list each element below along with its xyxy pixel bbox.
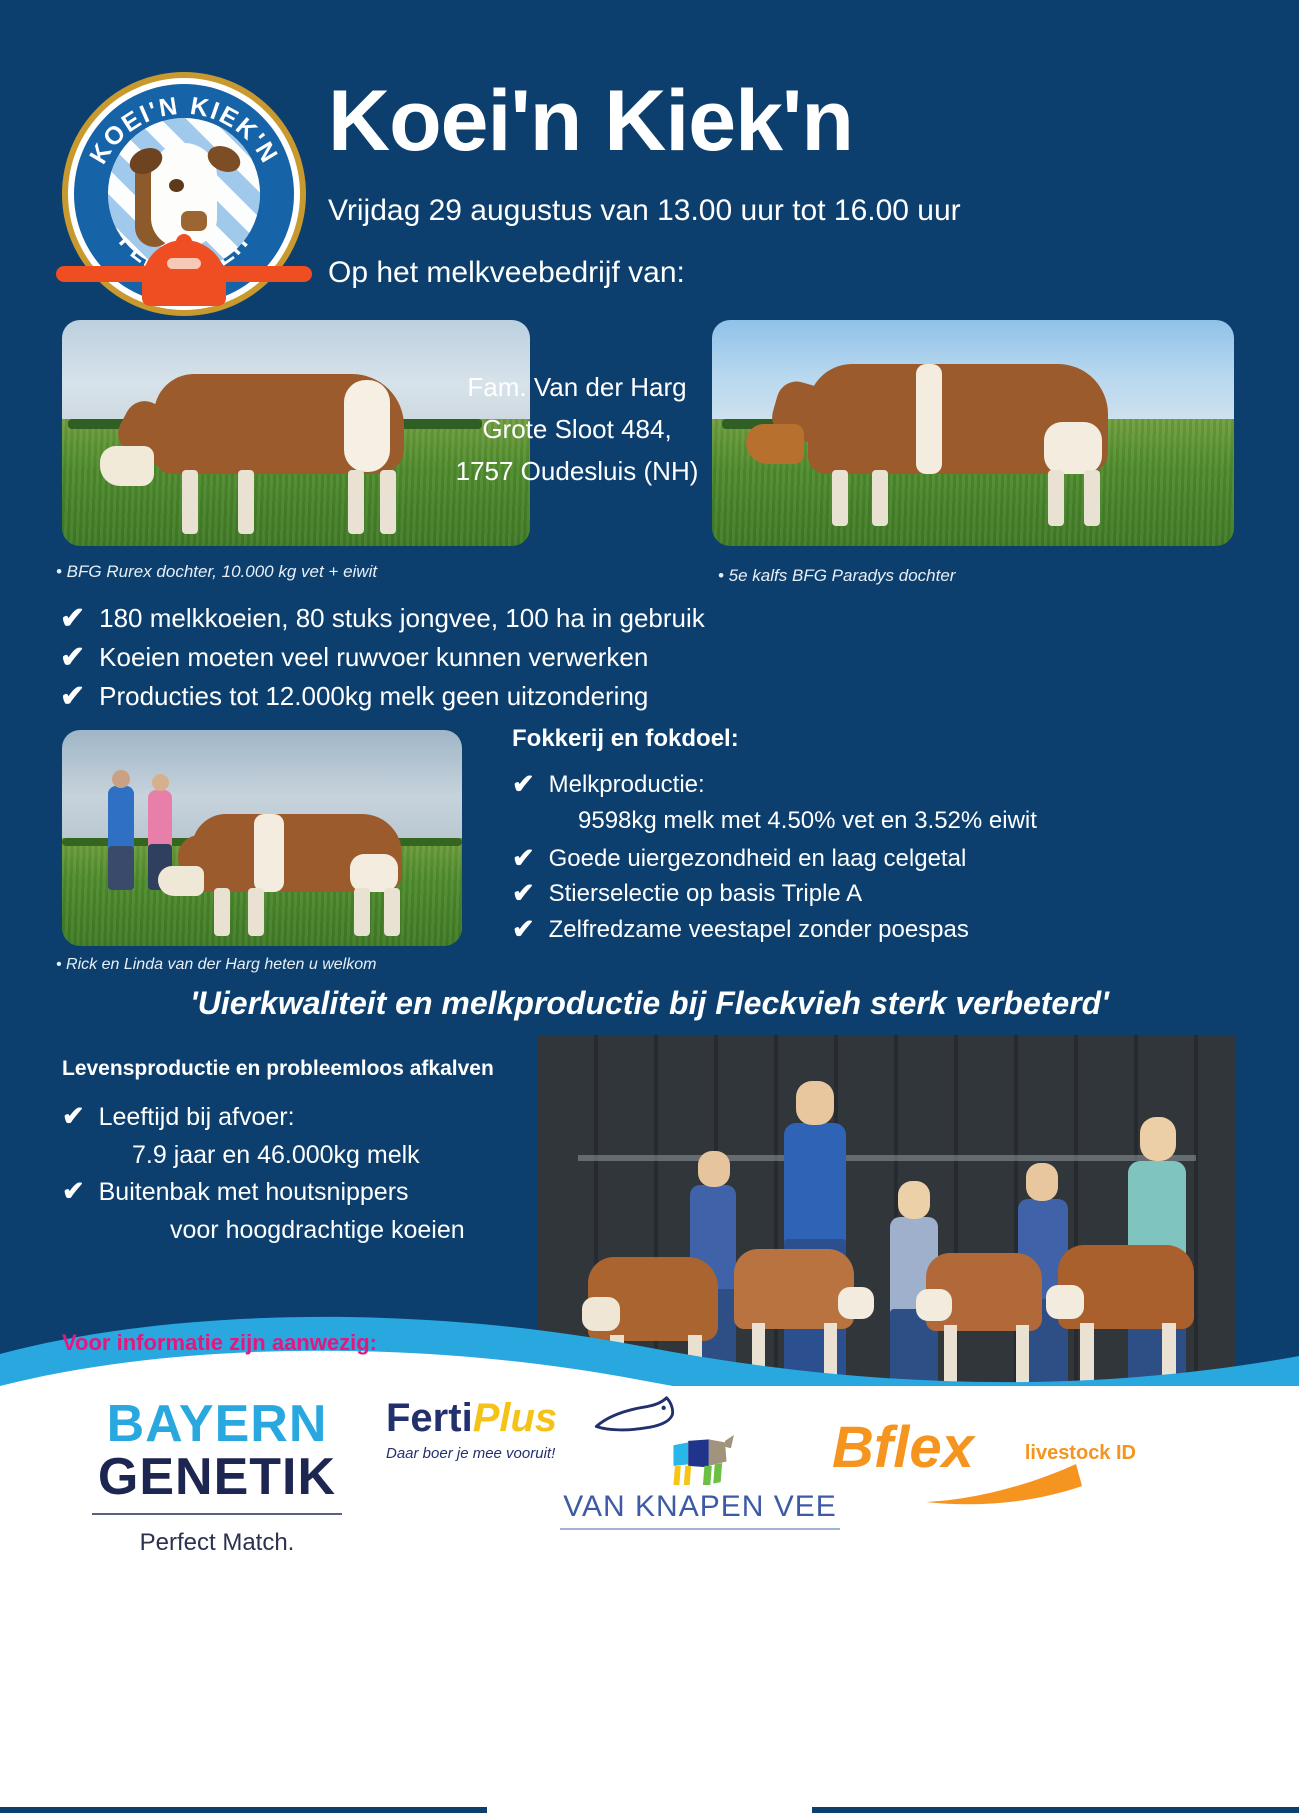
check-icon: ✔	[512, 916, 535, 943]
fact-text: 180 melkkoeien, 80 stuks jongvee, 100 ha…	[99, 604, 705, 634]
check-icon: ✔	[60, 682, 85, 712]
fact-text: Koeien moeten veel ruwvoer kunnen verwer…	[99, 643, 648, 673]
lifetime-item-label: Leeftijd bij afvoer:	[99, 1103, 295, 1132]
check-icon: ✔	[512, 845, 535, 872]
bottom-notch	[487, 1807, 812, 1813]
bayern-line-2: GENETIK	[82, 1450, 352, 1505]
address-line-2: Grote Sloot 484,	[452, 408, 702, 450]
van-knapen-cow-icon	[663, 1432, 737, 1488]
farm-address: Fam. Van der Harg Grote Sloot 484, 1757 …	[452, 366, 702, 492]
poster-root: KOEI'N KIEK'N FLECKVIEH	[0, 0, 1299, 1813]
check-icon: ✔	[62, 1103, 85, 1130]
breeding-heading: Fokkerij en fokdoel:	[512, 725, 1112, 753]
list-item: ✔ Buitenbak met houtsnippers	[62, 1178, 532, 1207]
info-label: Voor informatie zijn aanwezig:	[62, 1330, 377, 1356]
bflex-swoosh-icon	[924, 1462, 1084, 1506]
check-icon: ✔	[512, 771, 535, 798]
sponsor-logo-bflex[interactable]: Bflex livestock ID	[832, 1420, 1132, 1475]
list-item: ✔ Producties tot 12.000kg melk geen uitz…	[60, 682, 860, 712]
poster-header: KOEI'N KIEK'N FLECKVIEH	[0, 0, 1299, 330]
breeding-item-label: Goede uiergezondheid en laag celgetal	[549, 845, 967, 873]
sponsor-logo-van-knapen-vee[interactable]: VAN KNAPEN VEE	[560, 1432, 840, 1530]
list-item: ✔ Stierselectie op basis Triple A	[512, 880, 1112, 908]
event-intro: Op het melkveebedrijf van:	[328, 256, 1288, 290]
breeding-item-label: Stierselectie op basis Triple A	[549, 880, 863, 908]
pull-quote: 'Uierkwaliteit en melkproductie bij Flec…	[0, 985, 1299, 1022]
page-title: Koei'n Kiek'n	[328, 78, 1288, 164]
fertiplus-line-1: Ferti	[386, 1396, 473, 1441]
van-knapen-text: VAN KNAPEN VEE	[560, 1490, 840, 1524]
photo-caption-3: • Rick en Linda van der Harg heten u wel…	[56, 956, 376, 974]
list-item: ✔ Koeien moeten veel ruwvoer kunnen verw…	[60, 643, 860, 673]
check-icon: ✔	[60, 604, 85, 634]
list-item: ✔ Melkproductie:	[512, 771, 1112, 799]
list-item: ✔ Zelfredzame veestapel zonder poespas	[512, 916, 1112, 944]
photo-caption-2: • 5e kalfs BFG Paradys dochter	[718, 566, 955, 586]
list-item: ✔ Leeftijd bij afvoer:	[62, 1103, 532, 1132]
lifetime-section: Levensproductie en probleemloos afkalven…	[62, 1057, 532, 1245]
lifetime-heading: Levensproductie en probleemloos afkalven	[62, 1057, 532, 1081]
bayern-line-1: BAYERN	[82, 1398, 352, 1450]
check-icon: ✔	[512, 880, 535, 907]
bayern-tagline: Perfect Match.	[82, 1529, 352, 1557]
photo-family-with-cow	[62, 730, 462, 946]
list-item: ✔ Goede uiergezondheid en laag celgetal	[512, 845, 1112, 873]
breeding-section: Fokkerij en fokdoel: ✔ Melkproductie: 95…	[512, 725, 1112, 951]
check-icon: ✔	[62, 1178, 85, 1205]
photo-caption-1: • BFG Rurex dochter, 10.000 kg vet + eiw…	[56, 562, 377, 582]
breeding-item-label: Zelfredzame veestapel zonder poespas	[549, 916, 969, 944]
check-icon: ✔	[60, 643, 85, 673]
address-line-3: 1757 Oudesluis (NH)	[452, 450, 702, 492]
title-block: Koei'n Kiek'n Vrijdag 29 augustus van 13…	[328, 78, 1288, 290]
address-line-1: Fam. Van der Harg	[452, 366, 702, 408]
fertiplus-line-2: Plus	[473, 1396, 557, 1441]
breeding-item-label: Melkproductie:	[549, 771, 705, 799]
bflex-subtitle: livestock ID	[1025, 1442, 1136, 1465]
bayern-divider	[92, 1513, 342, 1515]
lifetime-item-detail: 7.9 jaar en 46.000kg melk	[132, 1141, 532, 1170]
photo-cow-standing-right	[712, 320, 1234, 546]
van-knapen-divider	[560, 1528, 840, 1530]
farm-facts-list: ✔ 180 melkkoeien, 80 stuks jongvee, 100 …	[60, 604, 860, 721]
fact-text: Producties tot 12.000kg melk geen uitzon…	[99, 682, 648, 712]
event-datetime: Vrijdag 29 augustus van 13.00 uur tot 16…	[328, 194, 1288, 228]
sponsor-logo-bayern-genetik[interactable]: BAYERN GENETIK Perfect Match.	[82, 1398, 352, 1557]
lifetime-item-detail2: voor hoogdrachtige koeien	[170, 1216, 532, 1245]
koein-kiekn-logo: KOEI'N KIEK'N FLECKVIEH	[62, 72, 306, 316]
breeding-item-detail: 9598kg melk met 4.50% vet en 3.52% eiwit	[578, 807, 1112, 835]
list-item: ✔ 180 melkkoeien, 80 stuks jongvee, 100 …	[60, 604, 860, 634]
lifetime-item-label: Buitenbak met houtsnippers	[99, 1178, 409, 1207]
